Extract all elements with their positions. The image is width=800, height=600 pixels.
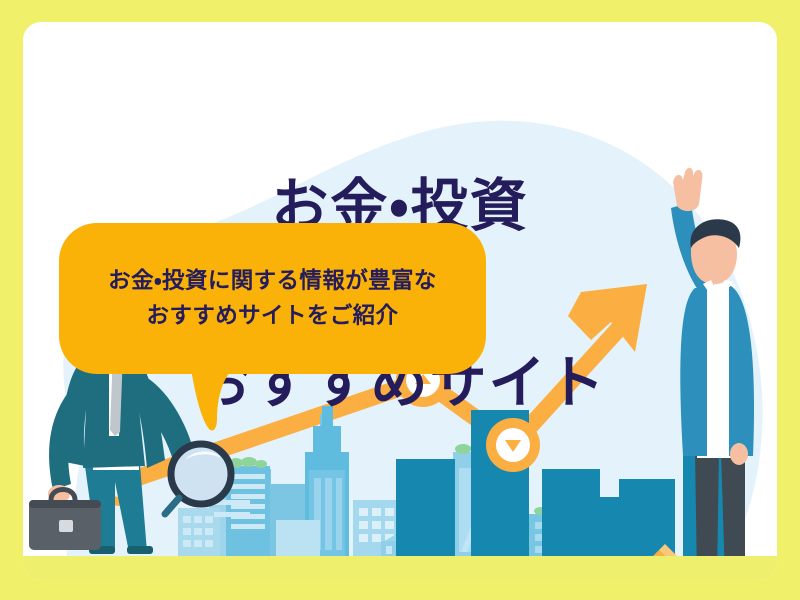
poster-canvas: お金・投資 おすすめサイト お金・投資に関する情報が豊富な おすすめサイトをご紹… [0, 0, 800, 600]
speech-bubble-line-2: おすすめサイトをご紹介 [147, 299, 399, 334]
speech-bubble-body: お金・投資に関する情報が豊富な おすすめサイトをご紹介 [59, 223, 486, 374]
speech-bubble-line-1: お金・投資に関する情報が豊富な [108, 264, 437, 299]
ground-strip [23, 556, 777, 580]
poster-panel: お金・投資 おすすめサイト お金・投資に関する情報が豊富な おすすめサイトをご紹… [23, 22, 777, 580]
speech-bubble-tail [177, 363, 247, 435]
speech-bubble: お金・投資に関する情報が豊富な おすすめサイトをご紹介 [59, 223, 486, 374]
